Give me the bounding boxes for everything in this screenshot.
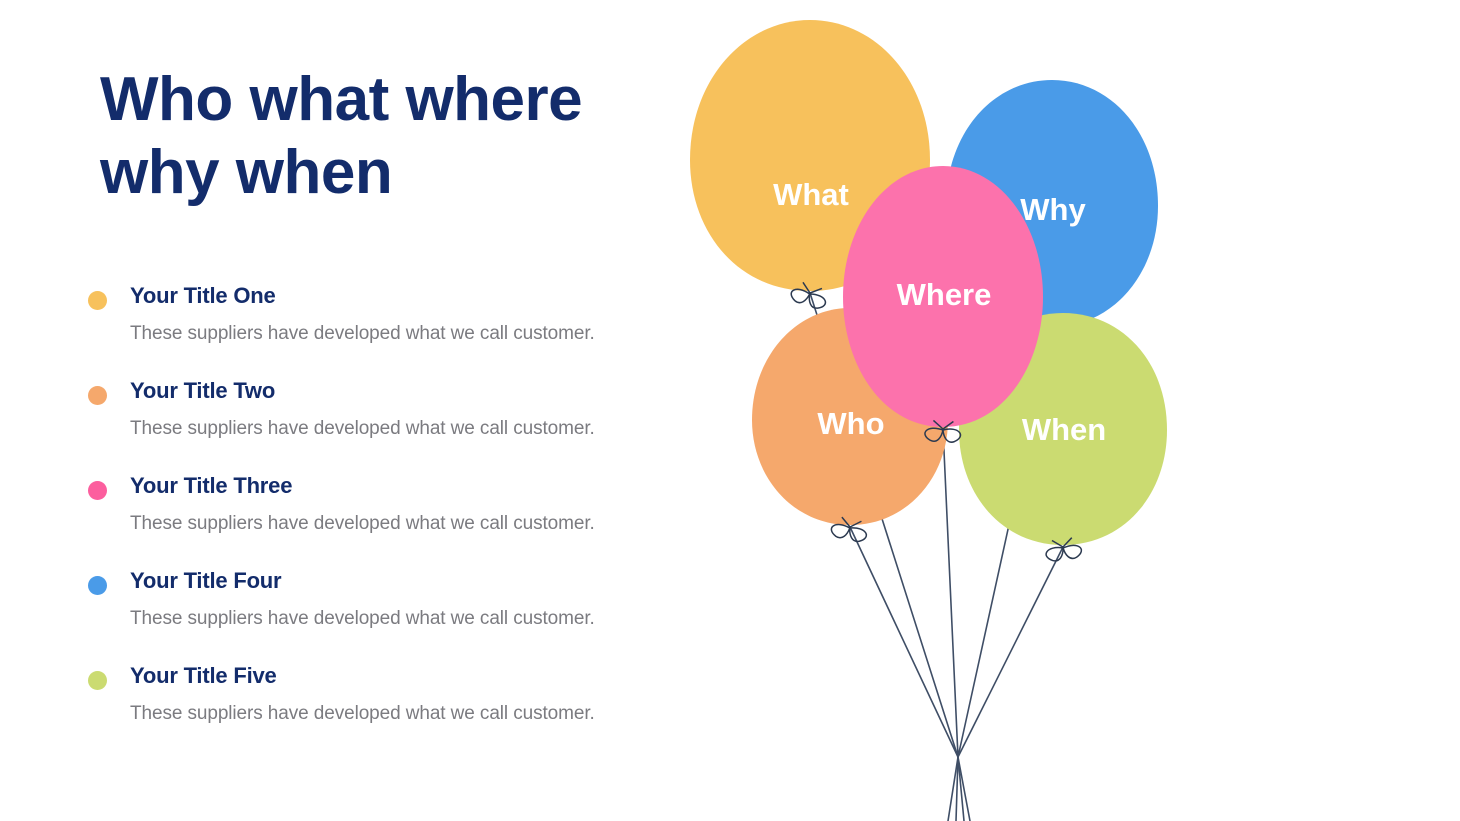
bullet-dot-icon-two <box>88 386 107 405</box>
list-item-five[interactable]: Your Title Five These suppliers have dev… <box>88 663 658 758</box>
balloon-bunch-illustration: What Why Who When Where <box>660 0 1460 821</box>
page-title: Who what where why when <box>100 63 660 209</box>
balloon-why-label: Why <box>1020 192 1086 227</box>
list-item-title-two: Your Title Two <box>130 378 275 404</box>
string-tail <box>958 757 964 821</box>
list-item-title-one: Your Title One <box>130 283 276 309</box>
string-where <box>943 429 958 757</box>
list-item-title-four: Your Title Four <box>130 568 281 594</box>
string-when <box>958 547 1063 757</box>
balloon-when-label: When <box>1022 412 1106 447</box>
list-item-one[interactable]: Your Title One These suppliers have deve… <box>88 283 658 378</box>
balloon-where-label: Where <box>897 277 992 312</box>
bullet-dot-icon-five <box>88 671 107 690</box>
string-tail <box>958 757 970 821</box>
bullet-list: Your Title One These suppliers have deve… <box>88 283 658 758</box>
content-column: Who what where why when Your Title One T… <box>0 0 680 821</box>
list-item-description-four: These suppliers have developed what we c… <box>130 608 595 630</box>
list-item-description-three: These suppliers have developed what we c… <box>130 513 595 535</box>
bullet-dot-icon-one <box>88 291 107 310</box>
bullet-dot-icon-four <box>88 576 107 595</box>
balloon-where[interactable]: Where <box>843 166 1043 427</box>
list-item-two[interactable]: Your Title Two These suppliers have deve… <box>88 378 658 473</box>
list-item-description-two: These suppliers have developed what we c… <box>130 418 595 440</box>
list-item-three[interactable]: Your Title Three These suppliers have de… <box>88 473 658 568</box>
list-item-description-one: These suppliers have developed what we c… <box>130 323 595 345</box>
list-item-description-five: These suppliers have developed what we c… <box>130 703 595 725</box>
balloon-who-label: Who <box>817 406 884 441</box>
list-item-title-three: Your Title Three <box>130 473 292 499</box>
string-who <box>850 527 958 757</box>
balloon-what-label: What <box>773 177 849 212</box>
slide-canvas: Who what where why when Your Title One T… <box>0 0 1460 821</box>
list-item-title-five: Your Title Five <box>130 663 277 689</box>
list-item-four[interactable]: Your Title Four These suppliers have dev… <box>88 568 658 663</box>
bullet-dot-icon-three <box>88 481 107 500</box>
